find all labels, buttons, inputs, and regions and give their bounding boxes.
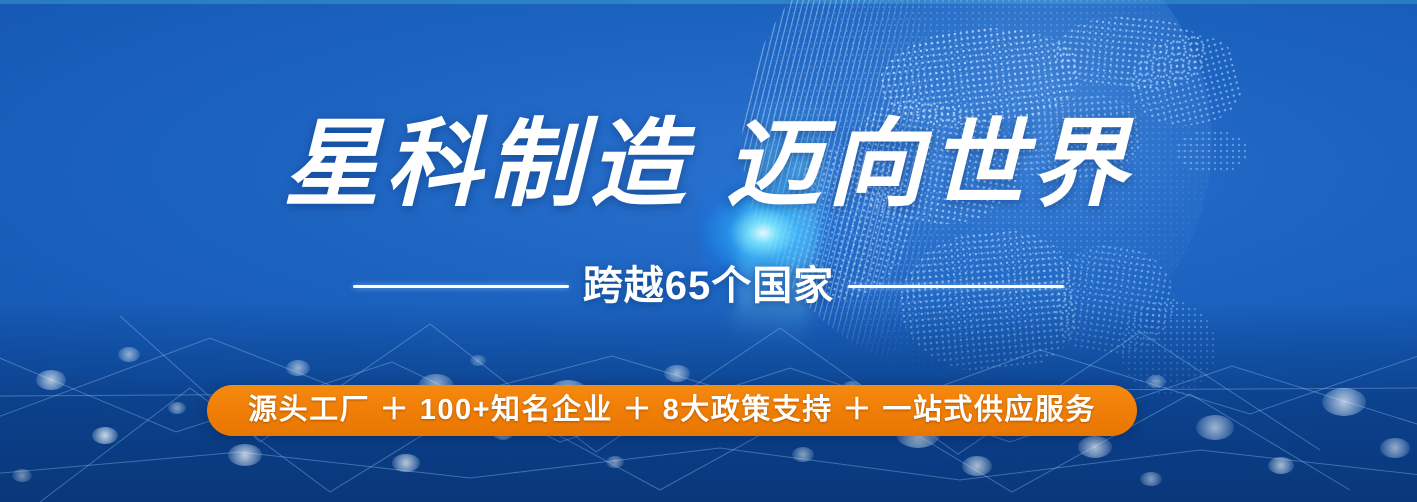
page-title: 星科制造迈向世界 — [0, 112, 1417, 218]
promo-banner: 星科制造迈向世界 跨越65个国家 源头工厂 ＋ 100+知名企业 ＋ 8大政策支… — [0, 0, 1417, 502]
divider-rule-right — [848, 285, 1064, 288]
highlight-pill-label: 源头工厂 ＋ 100+知名企业 ＋ 8大政策支持 ＋ 一站式供应服务 — [248, 396, 1096, 425]
subtitle-text: 跨越65个国家 — [569, 266, 849, 306]
banner-content: 星科制造迈向世界 跨越65个国家 源头工厂 ＋ 100+知名企业 ＋ 8大政策支… — [0, 0, 1417, 502]
headline-part-one: 星科制造 — [284, 111, 692, 218]
headline-part-two: 迈向世界 — [726, 111, 1134, 218]
divider-rule-left — [353, 285, 569, 288]
subtitle-row: 跨越65个国家 — [0, 266, 1417, 306]
highlight-pill[interactable]: 源头工厂 ＋ 100+知名企业 ＋ 8大政策支持 ＋ 一站式供应服务 — [207, 385, 1137, 436]
